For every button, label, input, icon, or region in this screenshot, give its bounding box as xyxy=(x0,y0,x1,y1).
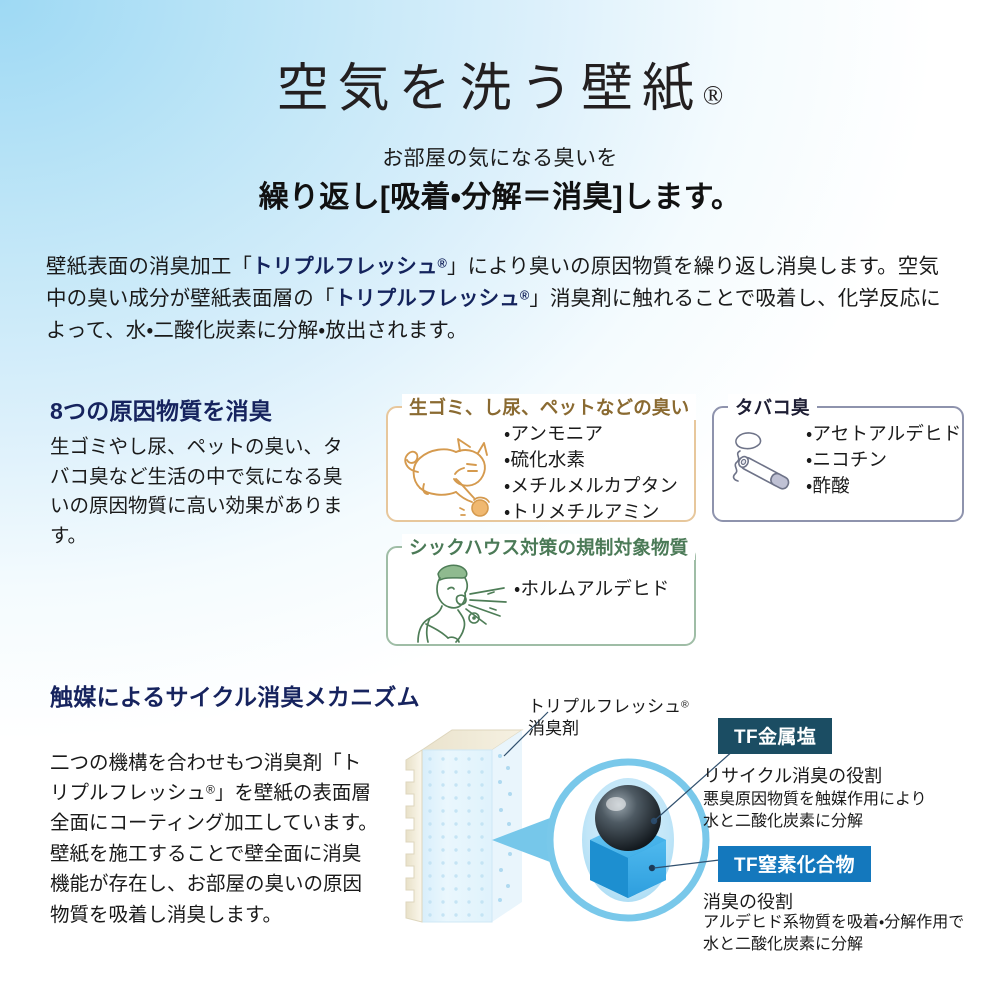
registered-mark-icon: ® xyxy=(206,782,215,796)
tf-nitrogen-compound-title: 消臭の役割 xyxy=(703,888,793,914)
diagram-caption-line-2: 消臭剤 xyxy=(528,719,579,738)
diagram-caption-triple-fresh: トリプルフレッシュ® 消臭剤 xyxy=(528,696,689,740)
infographic-page: 空気を洗う壁紙® お部屋の気になる臭いを 繰り返し[吸着・分解＝消臭]します。 … xyxy=(0,0,1000,1000)
odor-box-sick-house: シックハウス対策の規制対象物質 xyxy=(386,546,696,646)
magnified-particle-view xyxy=(550,762,706,918)
section-mechanism-heading: 触媒によるサイクル消臭メカニズム xyxy=(50,678,420,712)
brand-name-2: トリプルフレッシュ® xyxy=(334,287,529,310)
cat-playing-icon xyxy=(394,422,504,520)
badge-tf-nitrogen-compound: TF窒素化合物 xyxy=(718,846,871,882)
list-item: ・アセトアルデヒド xyxy=(806,421,961,447)
section-mechanism-body: 二つの機構を合わせもつ消臭剤「トリプルフレッシュ®」を壁紙の表面層全面にコーティ… xyxy=(50,748,380,930)
odor-box-tobacco-legend: タバコ臭 xyxy=(728,394,817,420)
registered-mark-icon: ® xyxy=(520,287,529,302)
odor-box-sick-house-legend: シックハウス対策の規制対象物質 xyxy=(402,534,695,560)
section-substances-heading: 8つの原因物質を消臭 xyxy=(50,392,272,426)
odor-box-waste-legend: 生ゴミ、し尿、ペットなどの臭い xyxy=(402,394,696,420)
odor-box-tobacco-list: ・アセトアルデヒド ・ニコチン ・酢酸 xyxy=(806,421,961,499)
page-title: 空気を洗う壁紙® xyxy=(0,46,1000,121)
tf-nitrogen-desc-line-2: 水と二酸化炭素に分解 xyxy=(703,936,863,953)
subtitle-strong: 繰り返し[吸着・分解＝消臭]します。 xyxy=(0,172,1000,216)
page-title-text: 空気を洗う壁紙 xyxy=(277,61,703,118)
list-item: ・硫化水素 xyxy=(504,447,678,473)
odor-box-tobacco: タバコ臭 ・アセトアルデヒド ・ニコチン ・酢酸 xyxy=(712,406,964,522)
registered-mark-icon: ® xyxy=(437,255,446,270)
subtitle-lead: お部屋の気になる臭いを xyxy=(0,142,1000,172)
list-item: ・トリメチルアミン xyxy=(504,499,678,525)
registered-mark-icon: ® xyxy=(703,80,724,110)
list-item: ・メチルメルカプタン xyxy=(504,473,678,499)
tf-metal-salt-sphere-icon xyxy=(595,785,661,851)
odor-box-waste: 生ゴミ、し尿、ペットなどの臭い xyxy=(386,406,696,522)
list-item: ・ニコチン xyxy=(806,447,961,473)
registered-mark-icon: ® xyxy=(681,698,689,710)
cigarette-smoke-icon xyxy=(720,424,806,510)
tf-metal-salt-desc-line-2: 水と二酸化炭素に分解 xyxy=(703,813,863,830)
tf-nitrogen-compound-description: アルデヒド系物質を吸着・分解作用で 水と二酸化炭素に分解 xyxy=(703,912,964,956)
coughing-person-icon xyxy=(402,558,514,644)
odor-box-sick-house-list: ・ホルムアルデヒド xyxy=(514,576,669,602)
list-item: ・アンモニア xyxy=(504,421,678,447)
tf-nitrogen-desc-line-1: アルデヒド系物質を吸着・分解作用で xyxy=(703,914,964,931)
wallpaper-cross-section xyxy=(406,730,522,922)
diagram-caption-line-1: トリプルフレッシュ xyxy=(528,697,681,716)
list-item: ・酢酸 xyxy=(806,473,961,499)
tf-metal-salt-description: 悪臭原因物質を触媒作用により 水と二酸化炭素に分解 xyxy=(703,789,927,833)
badge-tf-metal-salt: TF金属塩 xyxy=(718,718,832,754)
intro-part-1: 壁紙表面の消臭加工「 xyxy=(46,255,252,278)
odor-box-waste-list: ・アンモニア ・硫化水素 ・メチルメルカプタン ・トリメチルアミン xyxy=(504,421,678,525)
list-item: ・ホルムアルデヒド xyxy=(514,576,669,602)
intro-paragraph: 壁紙表面の消臭加工「トリプルフレッシュ®」により臭いの原因物質を繰り返し消臭しま… xyxy=(46,251,946,348)
brand-name-2-text: トリプルフレッシュ xyxy=(334,287,519,310)
section-substances-body: 生ゴミやし尿、ペットの臭い、タバコ臭など生活の中で気になる臭いの原因物質に高い効… xyxy=(50,433,360,552)
brand-name-1: トリプルフレッシュ® xyxy=(252,255,447,278)
tf-metal-salt-desc-line-1: 悪臭原因物質を触媒作用により xyxy=(703,791,927,808)
tf-metal-salt-title: リサイクル消臭の役割 xyxy=(703,762,882,788)
brand-name-1-text: トリプルフレッシュ xyxy=(252,255,437,278)
